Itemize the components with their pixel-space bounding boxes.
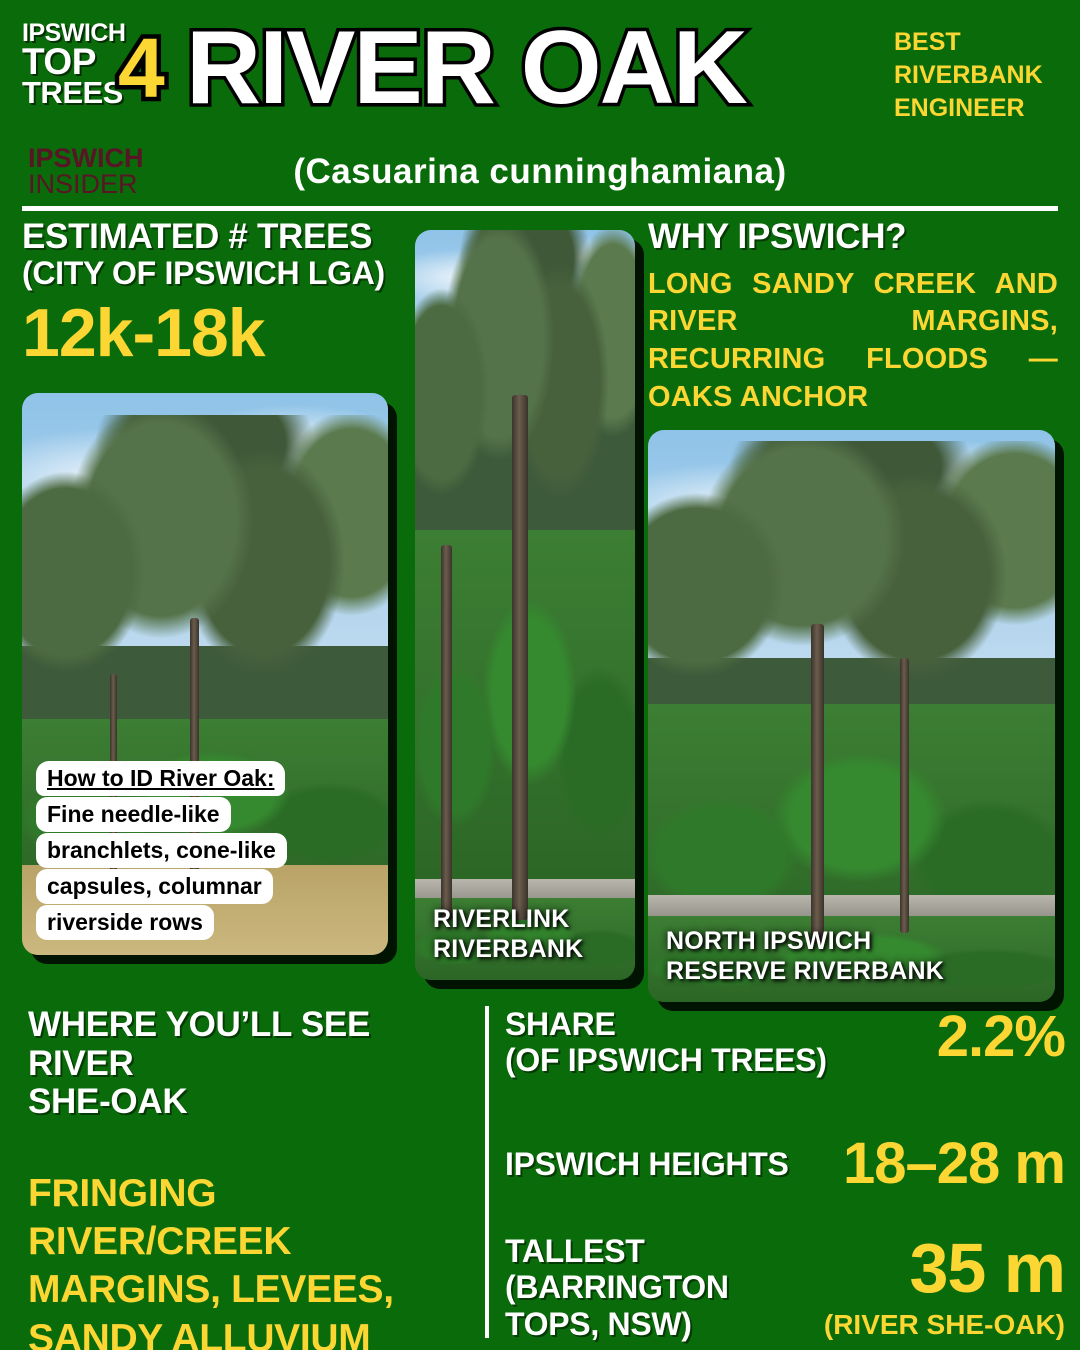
id-callout-line-5: riverside rows: [36, 905, 214, 940]
photo-caption-riverlink: RIVERLINK RIVERBANK: [433, 904, 621, 964]
stat-share-value: 2.2%: [937, 1006, 1065, 1066]
stat-share-row: SHARE (OF IPSWICH TREES) 2.2%: [505, 1006, 1065, 1079]
tagline-line-2: RIVERBANK: [894, 59, 1056, 92]
where-heading-line-2: SHE-OAK: [28, 1083, 458, 1122]
estimated-trees-heading-main: ESTIMATED # TREES: [22, 217, 372, 256]
photo-trunk: [512, 395, 528, 920]
caption-line-2: RIVERBANK: [433, 934, 621, 964]
photo-north-ipswich-reserve: NORTH IPSWICH RESERVE RIVERBANK: [648, 430, 1055, 1002]
caption-line-1: NORTH IPSWICH: [666, 926, 1041, 956]
caption-line-2: RESERVE RIVERBANK: [666, 956, 1041, 986]
stat-tallest-label-line-3: TOPS, NSW): [505, 1306, 824, 1342]
caption-line-1: RIVERLINK: [433, 904, 621, 934]
stat-tallest-label-line-2: (BARRINGTON: [505, 1269, 824, 1305]
where-heading-line-1: WHERE YOU’LL SEE RIVER: [28, 1006, 458, 1083]
where-body-line-2: RIVER/CREEK: [28, 1218, 458, 1266]
why-ipswich-heading: WHY IPSWICH?: [648, 218, 1058, 256]
center-photo-column: RIVERLINK RIVERBANK: [415, 230, 635, 992]
infographic-page: IPSWICH TOP TREES 4 RIVER OAK BEST RIVER…: [0, 0, 1080, 1350]
how-to-id-callout: How to ID River Oak: Fine needle-like br…: [36, 761, 287, 941]
brand-line-trees: TREES: [22, 79, 132, 108]
id-callout-line-3: branchlets, cone-like: [36, 833, 287, 868]
bottom-vertical-divider: [485, 1006, 489, 1338]
stat-tallest-value: 35 m: [824, 1233, 1065, 1303]
stat-share-label: SHARE (OF IPSWICH TREES): [505, 1006, 937, 1079]
stat-heights-value: 18–28 m: [843, 1135, 1065, 1193]
brand-logo: IPSWICH TOP TREES: [22, 22, 132, 108]
stat-tallest-label-line-1: TALLEST: [505, 1233, 824, 1269]
header-divider: [22, 206, 1058, 211]
why-ipswich-body: LONG SANDY CREEK AND RIVER MARGINS, RECU…: [648, 266, 1058, 417]
photo-caption-north-ipswich: NORTH IPSWICH RESERVE RIVERBANK: [666, 926, 1041, 986]
photo-trunk: [441, 545, 452, 920]
photo-canopy: [22, 415, 388, 763]
scientific-name-subtitle: (Casuarina cunninghamiana): [0, 152, 1080, 192]
tagline-line-1: BEST: [894, 26, 1056, 59]
middle-section: ESTIMATED # TREES (CITY OF IPSWICH LGA) …: [0, 218, 1080, 990]
brand-line-top: TOP: [22, 45, 132, 79]
estimated-trees-subheading: (CITY OF IPSWICH LGA): [22, 256, 402, 291]
where-body-line-1: FRINGING: [28, 1170, 458, 1218]
where-heading: WHERE YOU’LL SEE RIVER SHE-OAK: [28, 1006, 458, 1122]
where-body: FRINGING RIVER/CREEK MARGINS, LEVEES, SA…: [28, 1170, 458, 1350]
where-body-line-3: MARGINS, LEVEES,: [28, 1266, 458, 1314]
stat-share-label-line-2: (OF IPSWICH TREES): [505, 1042, 937, 1078]
stat-tallest-value-group: 35 m (RIVER SHE-OAK): [824, 1233, 1065, 1341]
why-ipswich-column: WHY IPSWICH? LONG SANDY CREEK AND RIVER …: [648, 218, 1058, 1002]
stats-block: SHARE (OF IPSWICH TREES) 2.2% IPSWICH HE…: [505, 1002, 1065, 1342]
header: IPSWICH TOP TREES 4 RIVER OAK BEST RIVER…: [0, 0, 1080, 208]
id-callout-line-4: capsules, columnar: [36, 869, 273, 904]
id-callout-line-1: How to ID River Oak:: [36, 761, 285, 796]
rank-number-badge: 4: [118, 26, 165, 110]
photo-river-oak-closeup: How to ID River Oak: Fine needle-like br…: [22, 393, 388, 955]
where-body-line-4: SANDY ALLUVIUM: [28, 1315, 458, 1350]
stat-tallest-label: TALLEST (BARRINGTON TOPS, NSW): [505, 1233, 824, 1342]
estimated-trees-value: 12k-18k: [22, 298, 402, 369]
photo-trunk: [900, 658, 909, 933]
estimated-trees-heading: ESTIMATED # TREES (CITY OF IPSWICH LGA): [22, 218, 402, 290]
bottom-section: WHERE YOU’LL SEE RIVER SHE-OAK FRINGING …: [0, 994, 1080, 1350]
stat-heights-label: IPSWICH HEIGHTS: [505, 1146, 843, 1182]
stat-tallest-row: TALLEST (BARRINGTON TOPS, NSW) 35 m (RIV…: [505, 1233, 1065, 1342]
estimated-trees-column: ESTIMATED # TREES (CITY OF IPSWICH LGA) …: [22, 218, 402, 955]
id-callout-line-2: Fine needle-like: [36, 797, 231, 832]
tagline-line-3: ENGINEER: [894, 92, 1056, 125]
photo-riverlink-riverbank: RIVERLINK RIVERBANK: [415, 230, 635, 980]
stat-share-label-line-1: SHARE: [505, 1006, 937, 1042]
where-youll-see-block: WHERE YOU’LL SEE RIVER SHE-OAK FRINGING …: [28, 1006, 458, 1350]
page-title: RIVER OAK: [186, 14, 886, 123]
stat-tallest-subnote: (RIVER SHE-OAK): [824, 1309, 1065, 1341]
photo-trunk: [811, 624, 824, 944]
stat-heights-row: IPSWICH HEIGHTS 18–28 m: [505, 1135, 1065, 1193]
tagline: BEST RIVERBANK ENGINEER: [894, 26, 1056, 125]
